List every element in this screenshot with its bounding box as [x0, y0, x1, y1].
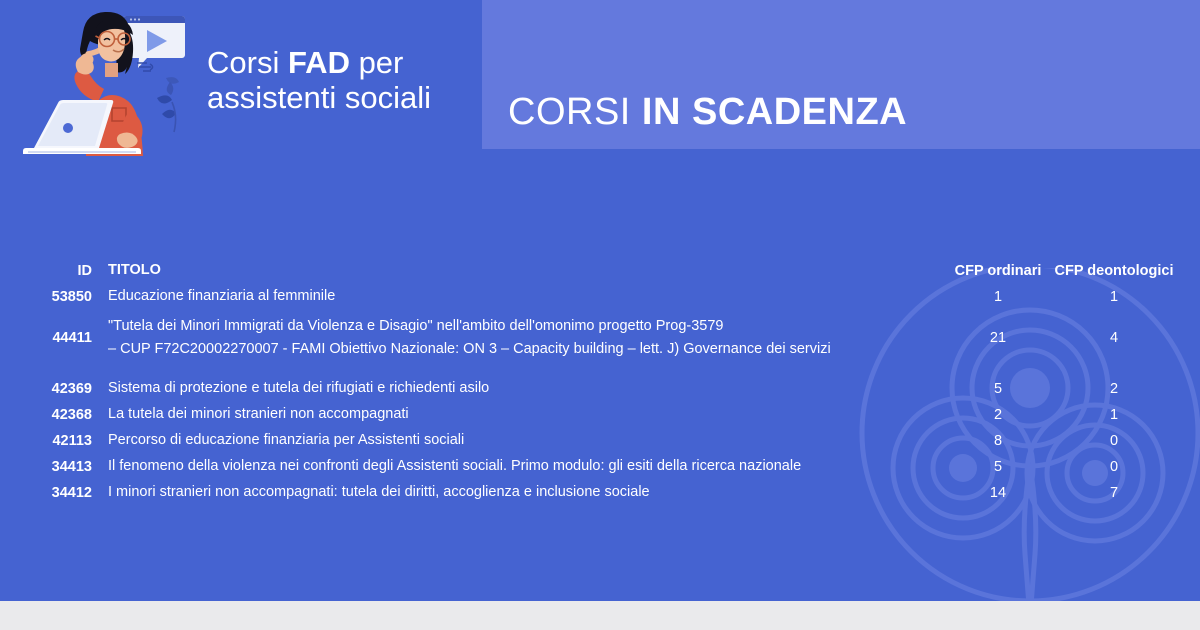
page-title: CORSI IN SCADENZA — [508, 93, 907, 131]
woman-at-laptop-illustration — [20, 6, 195, 156]
table-row[interactable]: 42113Percorso di educazione finanziaria … — [0, 428, 1200, 454]
brand-lockup: Corsi FAD per assistenti sociali — [20, 6, 470, 156]
row-cfp-ordinari: 5 — [948, 381, 1048, 397]
row-cfp-deontologici: 1 — [1048, 407, 1180, 423]
brand-title-line2: assistenti sociali — [207, 81, 431, 116]
row-cfp-deontologici: 1 — [1048, 289, 1180, 305]
row-title: I minori stranieri non accompagnati: tut… — [92, 481, 948, 504]
row-cfp-deontologici: 4 — [1048, 330, 1180, 346]
brand-line1-bold: FAD — [288, 45, 350, 80]
brand-title-line1: Corsi FAD per — [207, 46, 431, 81]
row-title: Il fenomeno della violenza nei confronti… — [92, 455, 948, 478]
row-title: Sistema di protezione e tutela dei rifug… — [92, 377, 948, 400]
column-header-cfp-ordinari: CFP ordinari — [948, 263, 1048, 279]
row-id: 42368 — [0, 407, 92, 423]
row-cfp-deontologici: 0 — [1048, 433, 1180, 449]
header-panel: CORSI IN SCADENZA — [482, 0, 1200, 149]
page-title-bold: IN SCADENZA — [642, 91, 907, 133]
row-id: 34412 — [0, 485, 92, 501]
row-title-line1: Sistema di protezione e tutela dei rifug… — [108, 377, 948, 400]
row-cfp-ordinari: 5 — [948, 459, 1048, 475]
row-title-line1: Percorso di educazione finanziaria per A… — [108, 429, 948, 452]
table-row[interactable]: 34413Il fenomeno della violenza nei conf… — [0, 454, 1200, 480]
column-header-cfp-deontologici: CFP deontologici — [1048, 263, 1180, 279]
row-title-line1: La tutela dei minori stranieri non accom… — [108, 403, 948, 426]
bottom-strip — [0, 601, 1200, 630]
table-body: 53850Educazione finanziaria al femminile… — [0, 284, 1200, 506]
row-id: 34413 — [0, 459, 92, 475]
column-header-id: ID — [0, 263, 92, 279]
screenshot-root: CORSI IN SCADENZA — [0, 0, 1200, 630]
row-title: La tutela dei minori stranieri non accom… — [92, 403, 948, 426]
table-row[interactable]: 53850Educazione finanziaria al femminile… — [0, 284, 1200, 310]
row-spacer — [0, 366, 1200, 376]
row-cfp-deontologici: 0 — [1048, 459, 1180, 475]
row-cfp-ordinari: 8 — [948, 433, 1048, 449]
row-cfp-ordinari: 2 — [948, 407, 1048, 423]
row-title-line1: I minori stranieri non accompagnati: tut… — [108, 481, 948, 504]
row-id: 42369 — [0, 381, 92, 397]
row-id: 44411 — [0, 330, 92, 346]
row-cfp-ordinari: 21 — [948, 330, 1048, 346]
row-cfp-ordinari: 14 — [948, 485, 1048, 501]
row-id: 42113 — [0, 433, 92, 449]
blue-canvas: CORSI IN SCADENZA — [0, 0, 1200, 601]
row-cfp-ordinari: 1 — [948, 289, 1048, 305]
row-cfp-deontologici: 7 — [1048, 485, 1180, 501]
row-title-line1: Il fenomeno della violenza nei confronti… — [108, 455, 948, 478]
brand-line1-suffix: per — [350, 45, 403, 80]
brand-title: Corsi FAD per assistenti sociali — [207, 46, 431, 115]
row-title-line2: – CUP F72C20002270007 - FAMI Obiettivo N… — [108, 338, 948, 361]
table-row[interactable]: 42368La tutela dei minori stranieri non … — [0, 402, 1200, 428]
row-cfp-deontologici: 2 — [1048, 381, 1180, 397]
table-header-row: ID TITOLO CFP ordinari CFP deontologici — [0, 258, 1200, 284]
table-row[interactable]: 44411"Tutela dei Minori Immigrati da Vio… — [0, 310, 1200, 366]
table-row[interactable]: 34412I minori stranieri non accompagnati… — [0, 480, 1200, 506]
page-title-thin: CORSI — [508, 91, 631, 133]
row-title: Percorso di educazione finanziaria per A… — [92, 429, 948, 452]
row-title-line1: Educazione finanziaria al femminile — [108, 285, 948, 308]
row-title-line1: "Tutela dei Minori Immigrati da Violenza… — [108, 315, 948, 338]
row-id: 53850 — [0, 289, 92, 305]
table-row[interactable]: 42369Sistema di protezione e tutela dei … — [0, 376, 1200, 402]
row-title: "Tutela dei Minori Immigrati da Violenza… — [92, 315, 948, 362]
courses-table: ID TITOLO CFP ordinari CFP deontologici … — [0, 258, 1200, 506]
column-header-title: TITOLO — [92, 259, 948, 282]
row-title: Educazione finanziaria al femminile — [92, 285, 948, 308]
brand-line1-prefix: Corsi — [207, 45, 288, 80]
